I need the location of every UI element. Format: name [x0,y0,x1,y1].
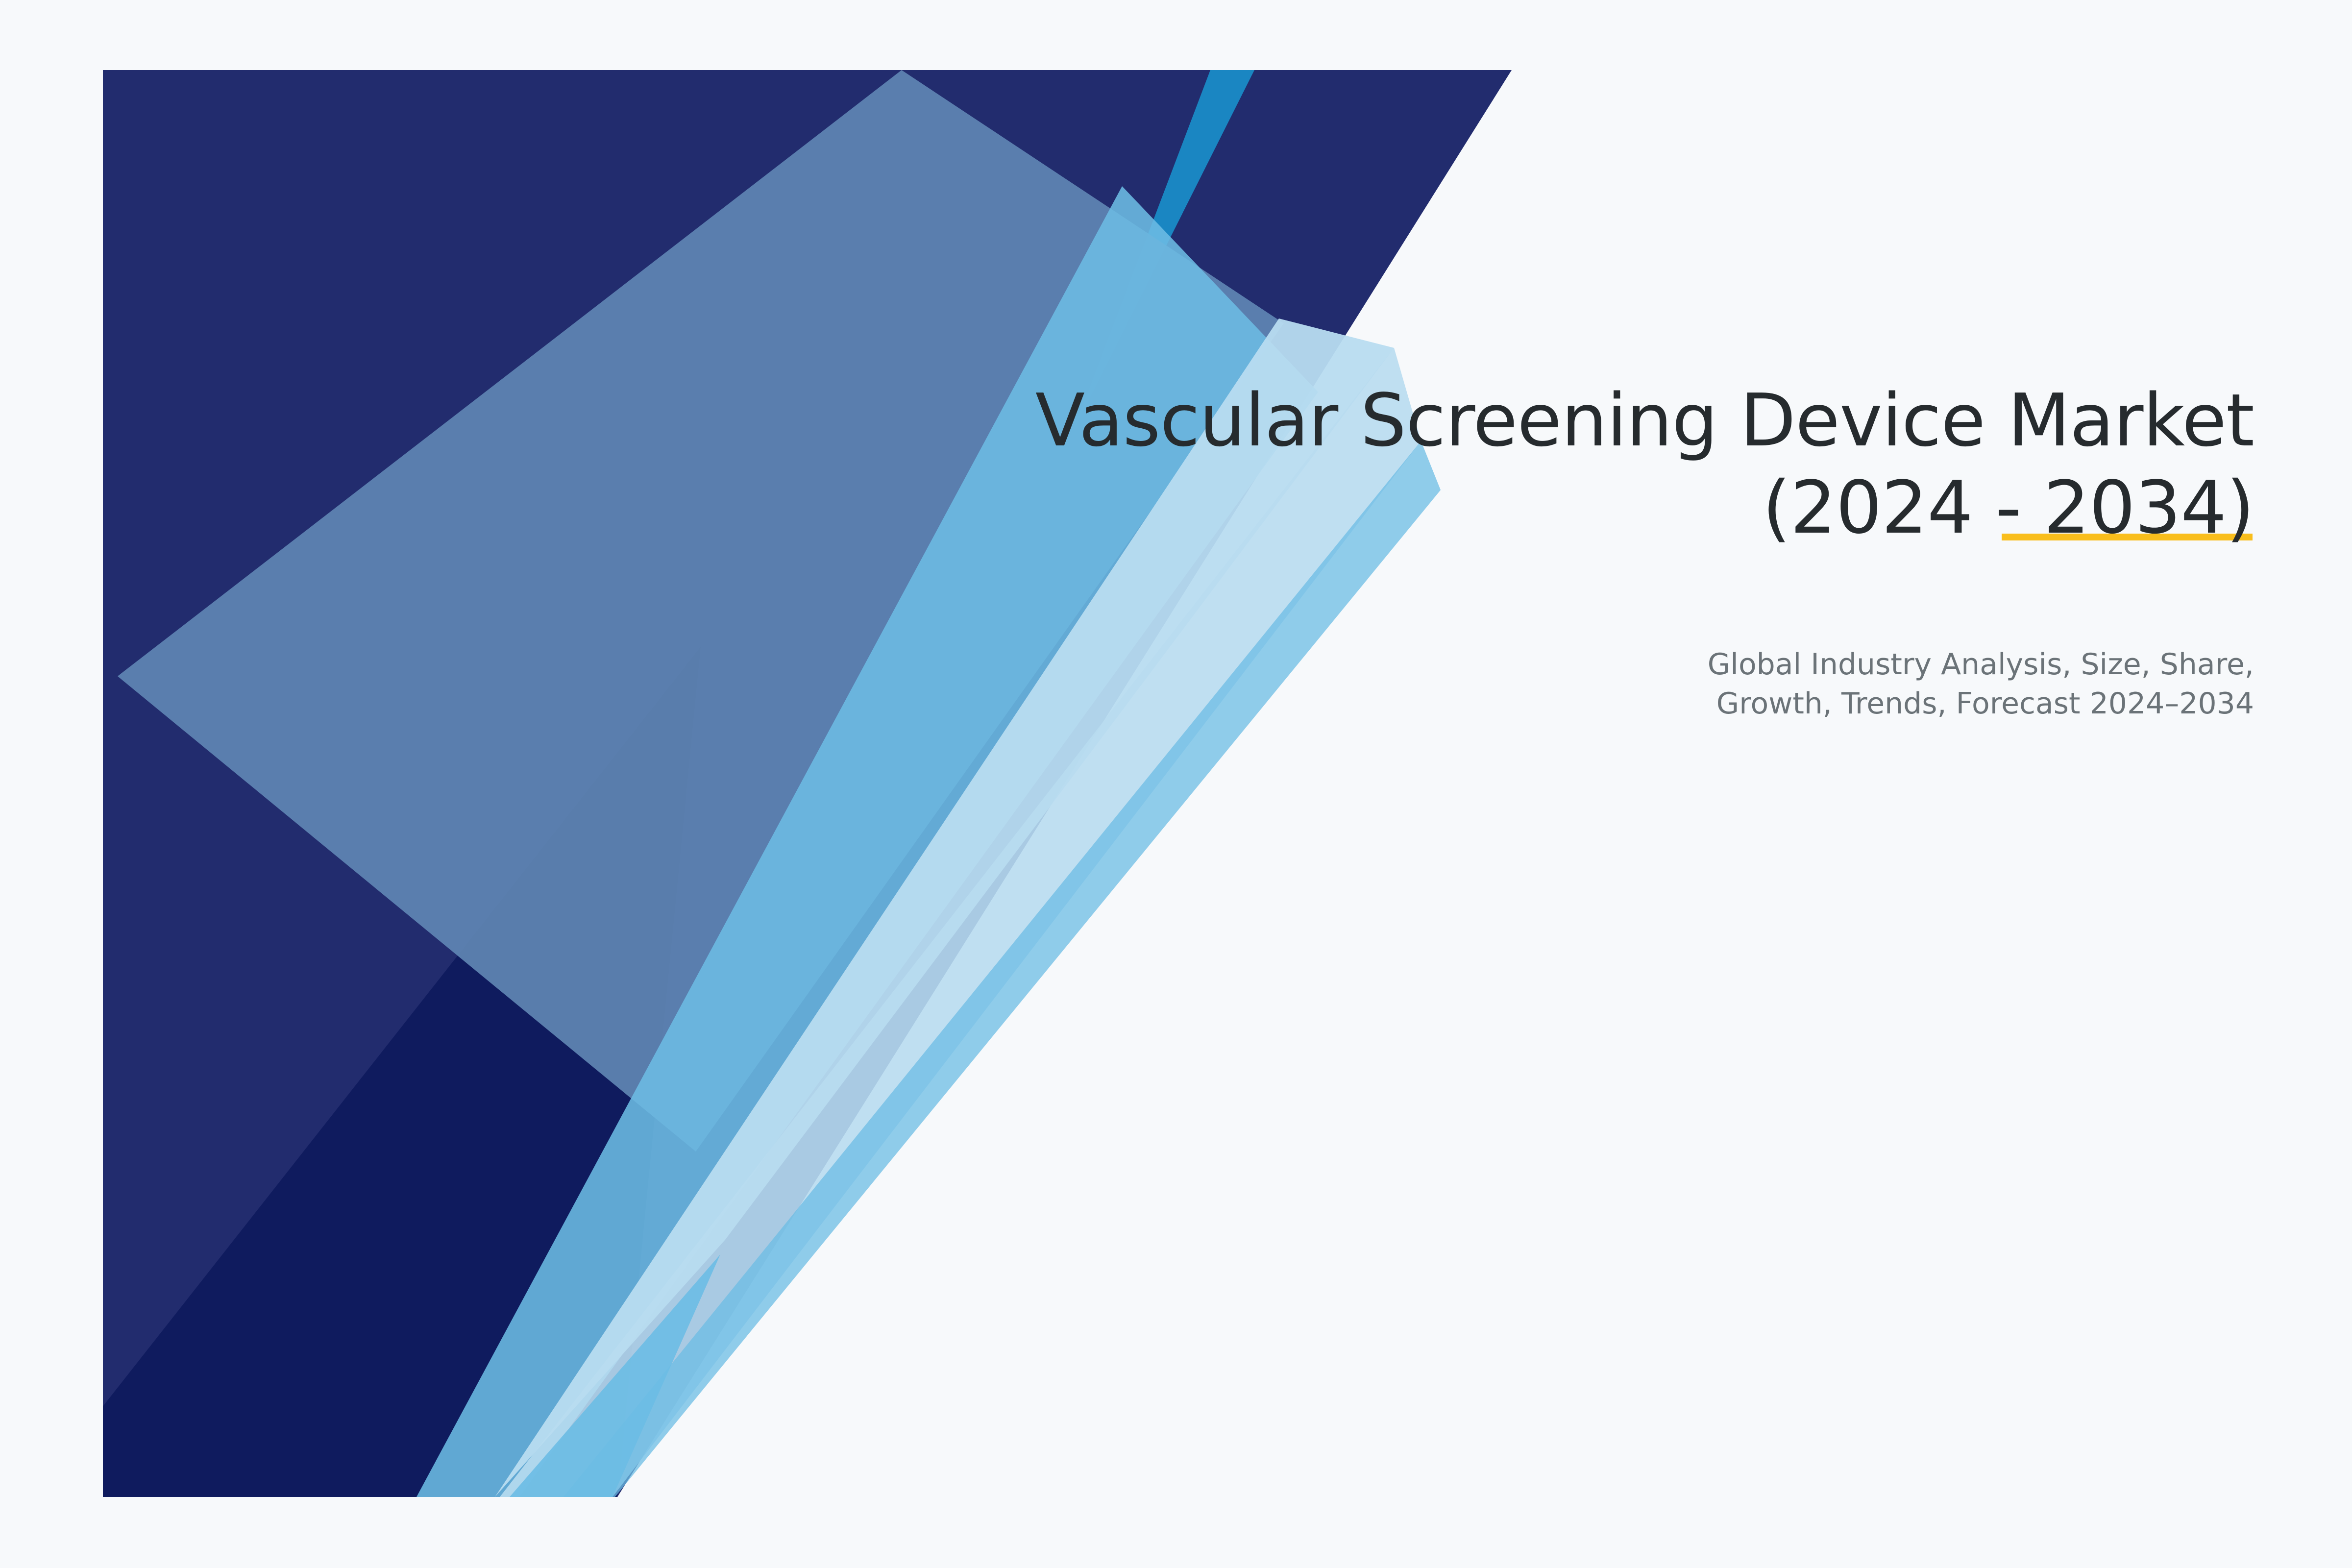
page-subtitle: Global Industry Analysis, Size, Share, G… [931,645,2254,724]
title-block: Vascular Screening Device Market (2024 -… [931,377,2254,551]
report-cover-page: Vascular Screening Device Market (2024 -… [0,0,2352,1568]
page-title: Vascular Screening Device Market (2024 -… [931,377,2254,551]
abstract-geometric-artwork [0,0,2352,1568]
